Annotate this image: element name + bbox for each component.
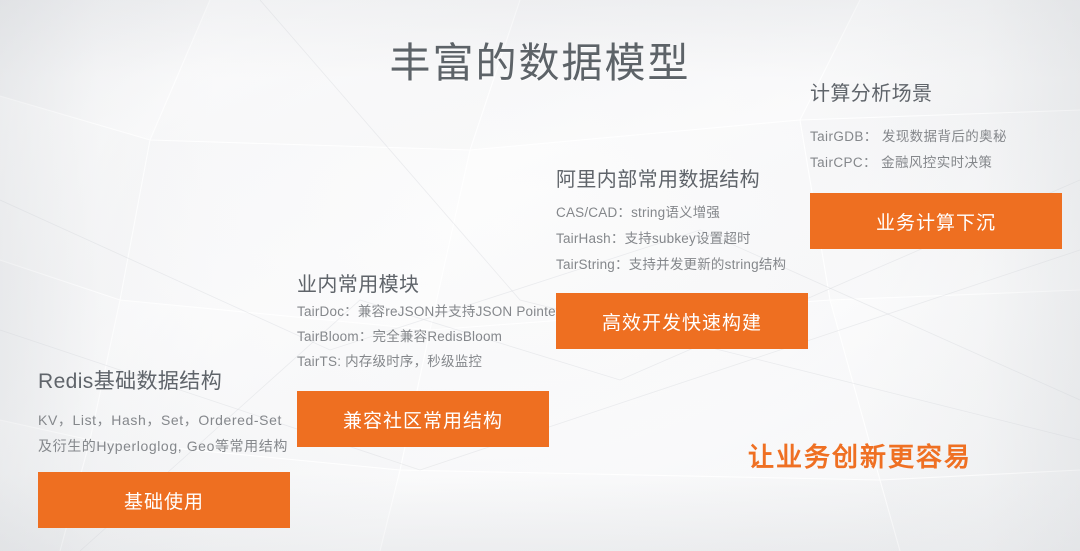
detail-item: TairTS: 内存级时序，秒级监控: [297, 349, 561, 374]
cta-button-efficient-development[interactable]: 高效开发快速构建: [556, 293, 808, 349]
detail-item: 及衍生的Hyperloglog, Geo等常用结构: [38, 433, 290, 459]
block-heading: 业内常用模块: [297, 268, 561, 297]
block-heading: Redis基础数据结构: [38, 365, 290, 395]
detail-item: TairCPC： 金融风控实时决策: [810, 150, 1062, 176]
detail-item: TairDoc：兼容reJSON并支持JSON Pointer: [297, 299, 561, 324]
block-redis-basics: Redis基础数据结构 KV，List，Hash，Set，Ordered-Set…: [38, 365, 290, 528]
detail-item: TairHash：支持subkey设置超时: [556, 226, 808, 252]
detail-item: KV，List，Hash，Set，Ordered-Set: [38, 407, 290, 433]
cta-button-basic-usage[interactable]: 基础使用: [38, 472, 290, 528]
detail-item: CAS/CAD：string语义增强: [556, 200, 808, 226]
detail-item: TairBloom：完全兼容RedisBloom: [297, 324, 561, 349]
detail-item: TairString：支持并发更新的string结构: [556, 252, 808, 278]
block-compute-analysis: 计算分析场景 TairGDB： 发现数据背后的奥秘 TairCPC： 金融风控实…: [810, 77, 1062, 249]
cta-button-community-compatible[interactable]: 兼容社区常用结构: [297, 391, 549, 447]
detail-item: TairGDB： 发现数据背后的奥秘: [810, 124, 1062, 150]
block-heading: 计算分析场景: [810, 77, 1062, 106]
detail-list: TairDoc：兼容reJSON并支持JSON Pointer TairBloo…: [297, 299, 561, 374]
detail-list: TairGDB： 发现数据背后的奥秘 TairCPC： 金融风控实时决策: [810, 124, 1062, 176]
detail-list: KV，List，Hash，Set，Ordered-Set 及衍生的Hyperlo…: [38, 407, 290, 459]
block-industry-modules: 业内常用模块 TairDoc：兼容reJSON并支持JSON Pointer T…: [297, 268, 561, 447]
slide-canvas: 丰富的数据模型 Redis基础数据结构 KV，List，Hash，Set，Ord…: [0, 0, 1080, 551]
cta-button-business-compute-sink[interactable]: 业务计算下沉: [810, 193, 1062, 249]
block-alibaba-internal: 阿里内部常用数据结构 CAS/CAD：string语义增强 TairHash：支…: [556, 163, 808, 349]
tagline: 让业务创新更容易: [748, 437, 972, 474]
block-heading: 阿里内部常用数据结构: [556, 163, 808, 192]
detail-list: CAS/CAD：string语义增强 TairHash：支持subkey设置超时…: [556, 200, 808, 278]
